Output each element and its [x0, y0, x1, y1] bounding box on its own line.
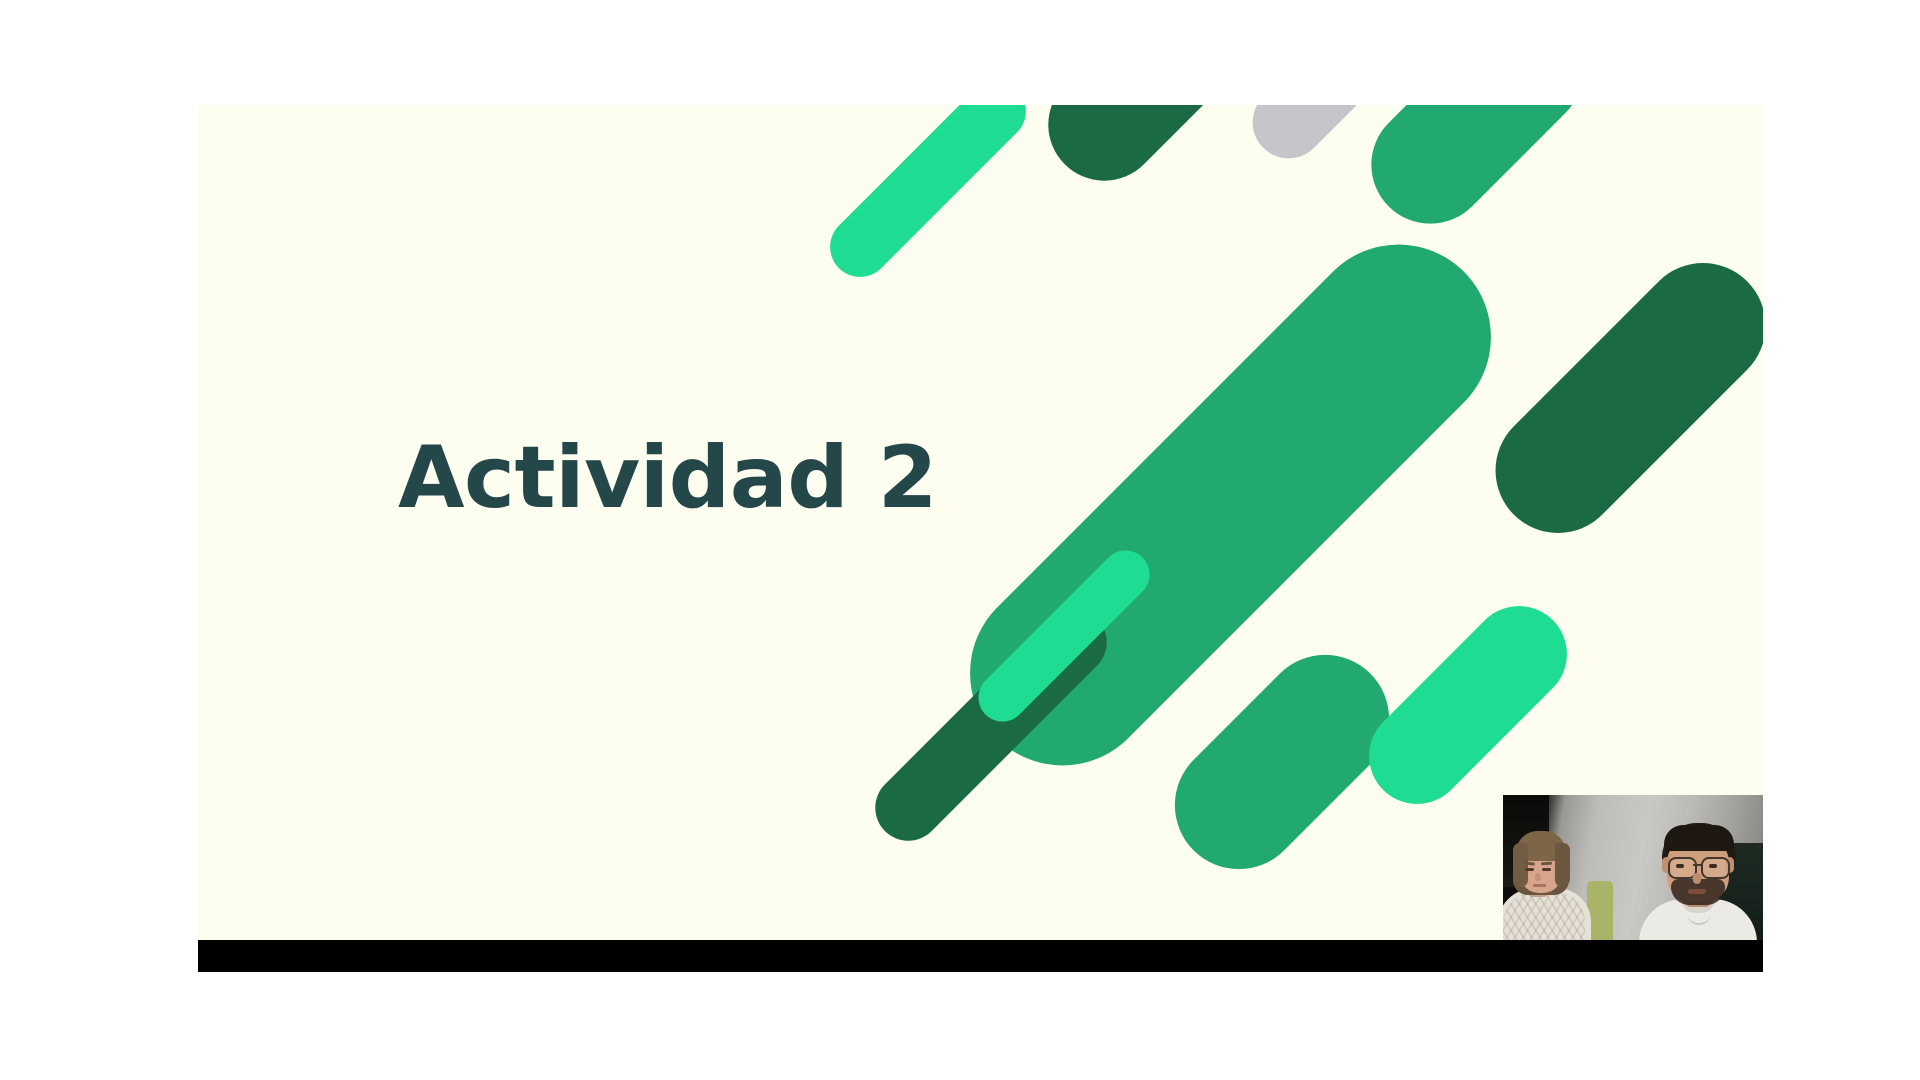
woman-torso	[1503, 888, 1591, 940]
slide-title: Actividad 2	[398, 433, 937, 523]
screen-share-viewport: Actividad 2	[0, 0, 1920, 1080]
bar-emerald-top-right	[1347, 105, 1607, 248]
woman-mouth	[1533, 884, 1546, 887]
bar-forest-top-mid	[1025, 105, 1243, 204]
woman-nose	[1535, 873, 1541, 881]
bar-emerald-main-large	[932, 206, 1530, 804]
man-eye-left	[1676, 864, 1684, 868]
bar-gray-top	[1238, 105, 1411, 173]
bar-spring-green-bottom	[969, 541, 1160, 732]
woman-eye-right	[1542, 868, 1551, 871]
woman-hair-right	[1555, 843, 1570, 887]
glasses-lens-right	[1701, 857, 1730, 879]
letterbox-bar	[198, 940, 1763, 972]
man-eye-right	[1709, 864, 1717, 868]
bar-spring-green-bottom-right	[1349, 586, 1587, 824]
bar-forest-right-edge	[1470, 237, 1763, 559]
man-nose	[1693, 873, 1701, 884]
webcam-pip-overlay[interactable]	[1503, 795, 1763, 940]
slide-stage: Actividad 2	[198, 105, 1763, 972]
man-mouth	[1688, 889, 1706, 894]
webcam-video-frame	[1503, 795, 1763, 940]
bar-emerald-bottom-mid	[1148, 628, 1415, 895]
man-hair-front	[1664, 825, 1734, 851]
glasses-bridge	[1693, 864, 1701, 866]
woman-eye-left	[1525, 868, 1534, 871]
bar-spring-green-top-left	[818, 105, 1039, 289]
bar-forest-bottom-left	[862, 596, 1121, 855]
woman-hair-left	[1513, 843, 1528, 887]
